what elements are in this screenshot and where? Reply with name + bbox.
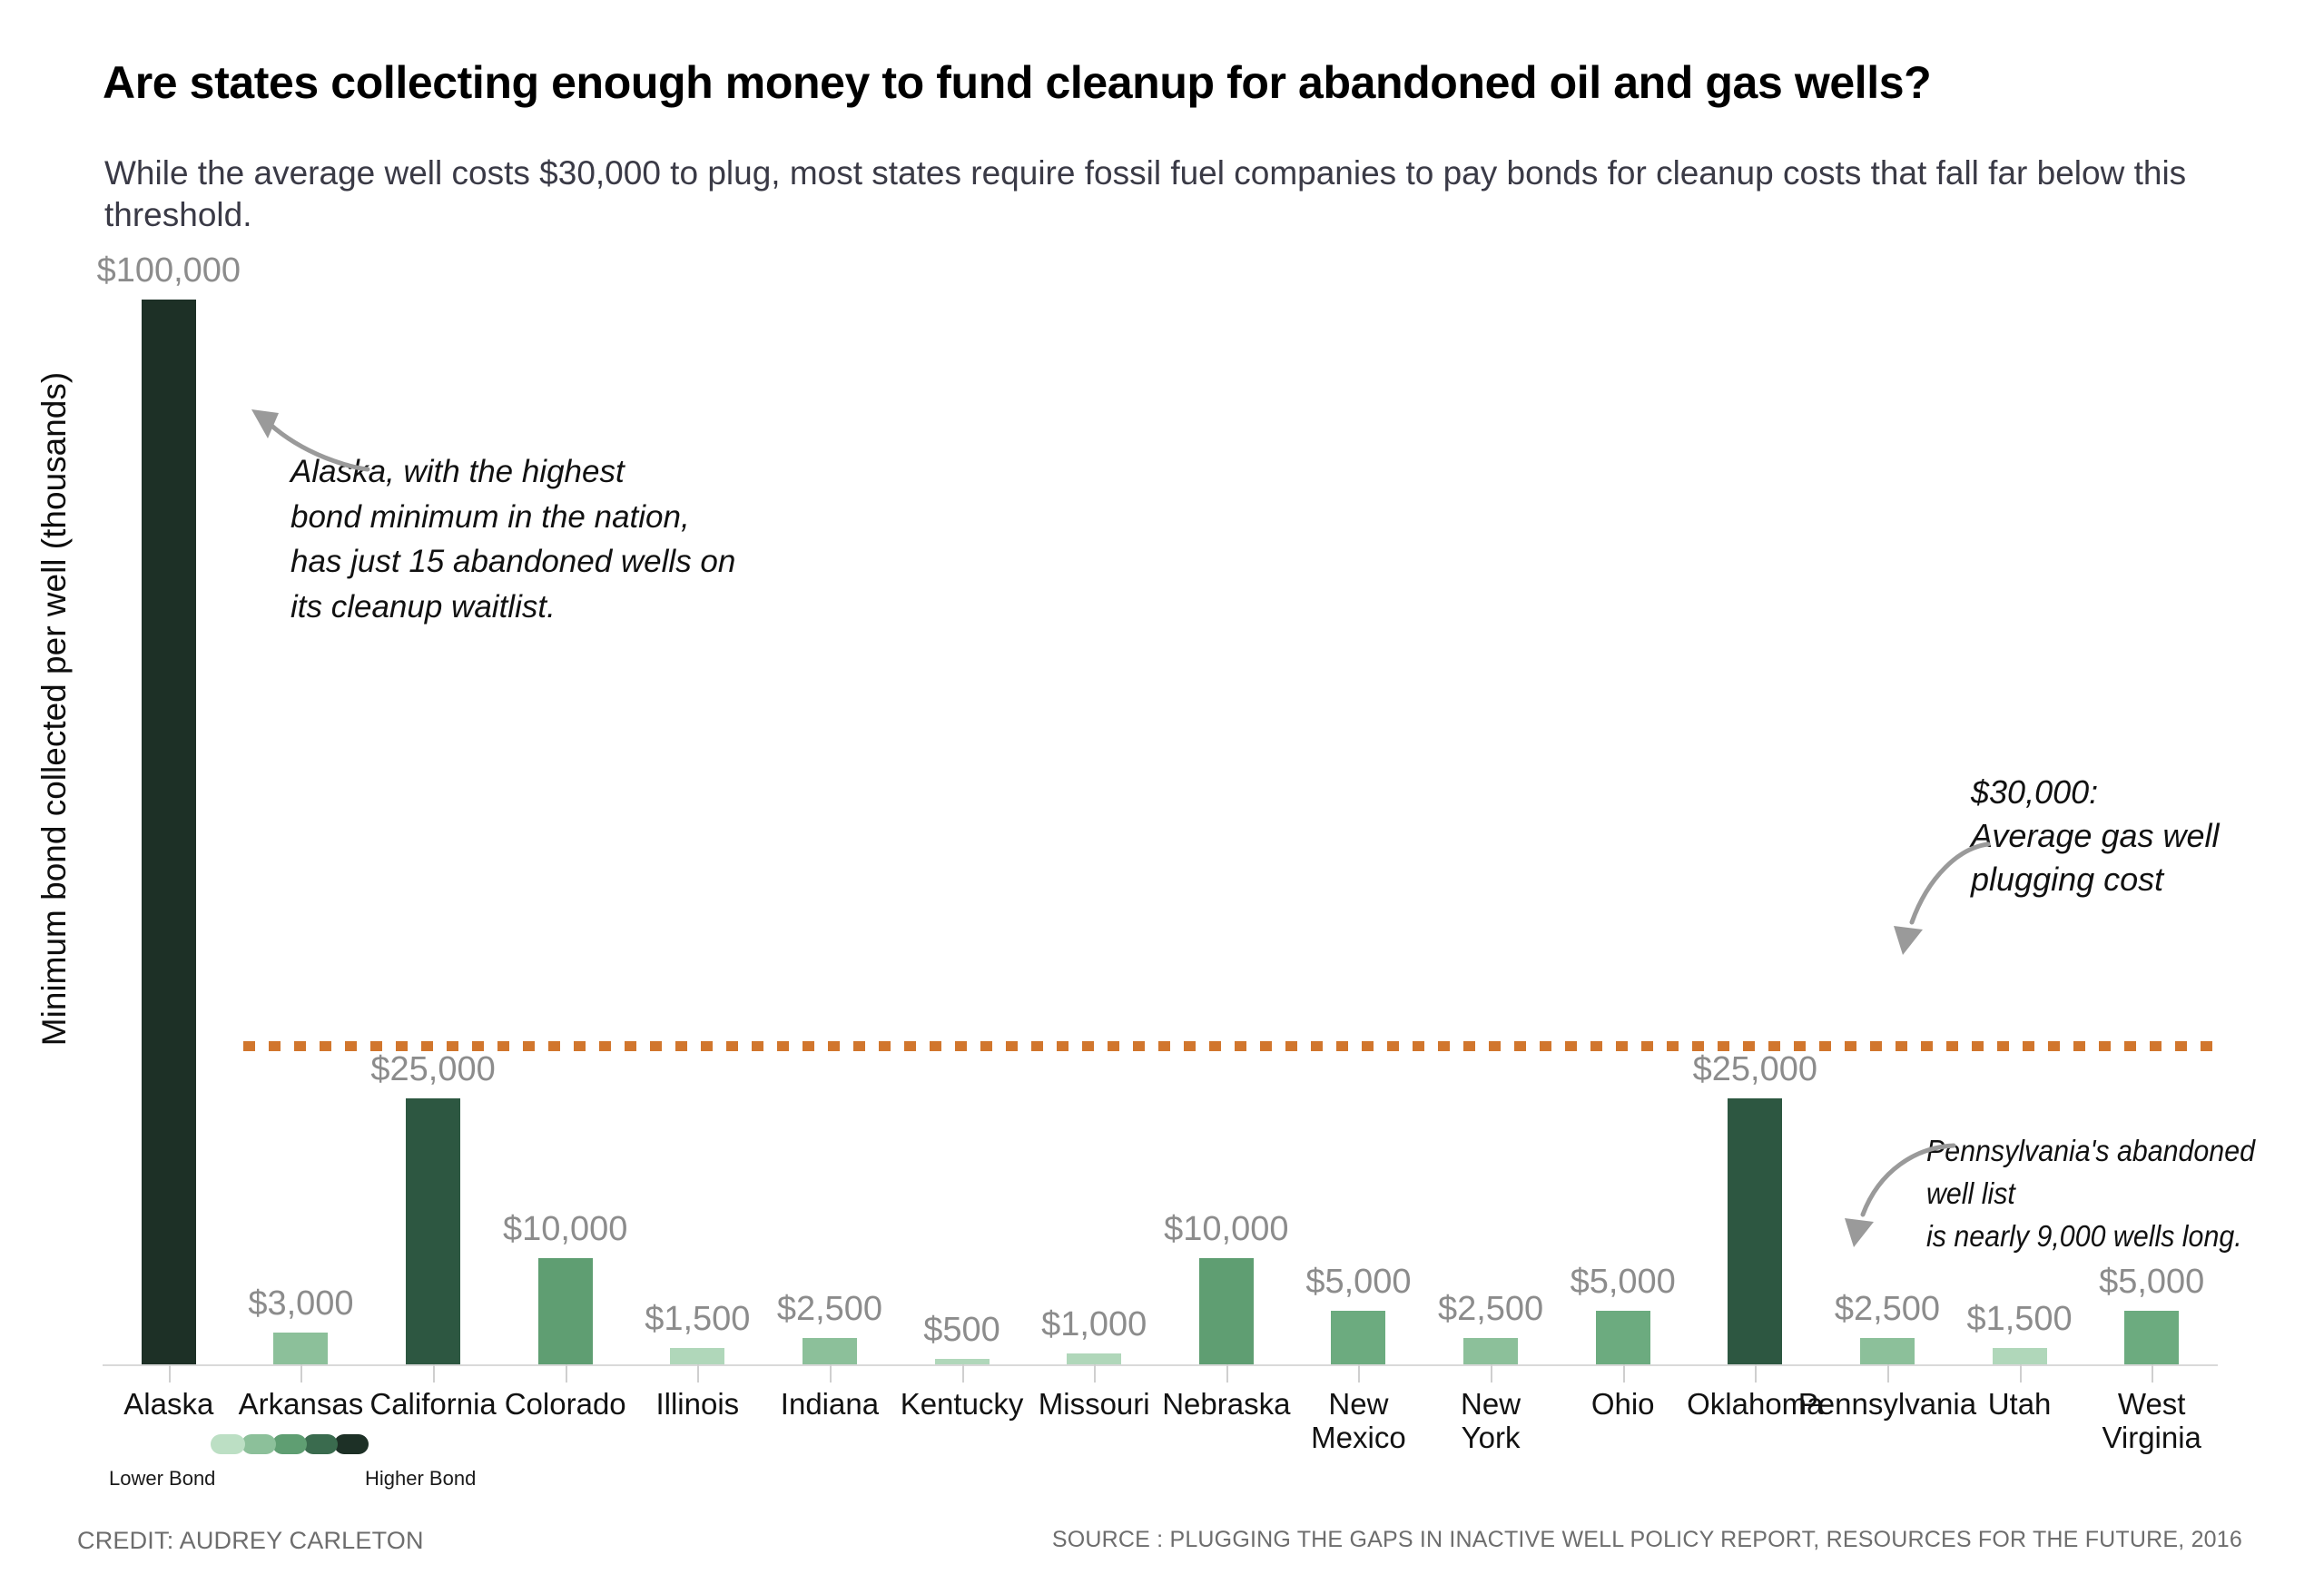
bar-slot: $100,000	[103, 300, 235, 1364]
annotation-pennsylvania: Pennsylvania's abandoned well list is ne…	[1926, 1130, 2292, 1258]
bar-value-label: $10,000	[1164, 1210, 1288, 1249]
bar-value-label: $2,500	[1438, 1290, 1543, 1329]
tick-mark	[1358, 1364, 1360, 1382]
x-tick: Pennsylvania	[1821, 1366, 1954, 1475]
x-tick: Illinois	[632, 1366, 764, 1475]
bar-value-label: $2,500	[1835, 1290, 1940, 1329]
bar-value-label: $10,000	[503, 1210, 627, 1249]
bar-slot: $2,500	[1424, 300, 1557, 1364]
credit-text: CREDIT: AUDREY CARLETON	[77, 1527, 424, 1555]
x-tick-label: Pennsylvania	[1798, 1388, 1976, 1422]
legend-swatch	[211, 1434, 245, 1454]
bar-value-label: $500	[923, 1311, 1000, 1350]
x-tick: Nebraska	[1160, 1366, 1293, 1475]
x-tick: West Virginia	[2085, 1366, 2218, 1475]
bar-slot: $10,000	[1160, 300, 1293, 1364]
bar[interactable]	[538, 1258, 593, 1364]
bar-value-label: $3,000	[248, 1284, 353, 1323]
bar-value-label: $1,000	[1041, 1305, 1147, 1344]
tick-mark	[1623, 1364, 1625, 1382]
bar-value-label: $2,500	[777, 1290, 882, 1329]
tick-mark	[830, 1364, 832, 1382]
bar[interactable]	[2124, 1311, 2179, 1364]
bar-slot: $5,000	[1293, 300, 1425, 1364]
x-tick-label: Kentucky	[901, 1388, 1024, 1422]
bar-slot: $500	[896, 300, 1029, 1364]
x-tick: Kentucky	[896, 1366, 1029, 1475]
bar[interactable]	[1463, 1338, 1518, 1364]
tick-mark	[2020, 1364, 2022, 1382]
tick-mark	[1755, 1364, 1757, 1382]
tick-mark	[1094, 1364, 1096, 1382]
x-tick: New Mexico	[1293, 1366, 1425, 1475]
tick-mark	[300, 1364, 302, 1382]
page-title: Are states collecting enough money to fu…	[103, 56, 1931, 109]
legend-swatch	[241, 1434, 276, 1454]
source-text: SOURCE : PLUGGING THE GAPS IN INACTIVE W…	[1052, 1527, 2242, 1553]
bar-slot: $2,500	[763, 300, 896, 1364]
bar[interactable]	[670, 1348, 724, 1364]
chart-subtitle: While the average well costs $30,000 to …	[104, 153, 2238, 237]
bar[interactable]	[1199, 1258, 1254, 1364]
x-tick: Colorado	[499, 1366, 632, 1475]
legend-swatch	[334, 1434, 369, 1454]
x-tick-label: Alaska	[123, 1388, 213, 1422]
legend: Lower Bond Higher Bond	[109, 1434, 490, 1516]
bar-value-label: $5,000	[1571, 1263, 1676, 1302]
bar[interactable]	[142, 300, 196, 1364]
bar-value-label: $25,000	[1693, 1050, 1817, 1089]
legend-lower-label: Lower Bond	[109, 1467, 215, 1491]
bar[interactable]	[1728, 1098, 1782, 1364]
bar-value-label: $100,000	[97, 251, 241, 290]
x-tick-label: Nebraska	[1162, 1388, 1290, 1422]
bar-slot: $25,000	[1689, 300, 1822, 1364]
bar[interactable]	[803, 1338, 857, 1364]
y-axis-title: Minimum bond collected per well (thousan…	[35, 273, 74, 1145]
bar[interactable]	[1860, 1338, 1915, 1364]
x-tick-label: Ohio	[1591, 1388, 1655, 1422]
x-tick: Utah	[1954, 1366, 2086, 1475]
bar[interactable]	[273, 1333, 328, 1364]
threshold-line	[243, 1041, 2216, 1051]
x-tick-label: Arkansas	[239, 1388, 364, 1422]
bar[interactable]	[1596, 1311, 1650, 1364]
tick-mark	[697, 1364, 699, 1382]
legend-higher-label: Higher Bond	[365, 1467, 476, 1491]
tick-mark	[169, 1364, 171, 1382]
bar-value-label: $5,000	[1305, 1263, 1411, 1302]
tick-mark	[433, 1364, 435, 1382]
x-tick: New York	[1424, 1366, 1557, 1475]
x-tick: Indiana	[763, 1366, 896, 1475]
x-tick-label: Colorado	[505, 1388, 626, 1422]
tick-mark	[1491, 1364, 1492, 1382]
tick-mark	[962, 1364, 964, 1382]
bar[interactable]	[1067, 1353, 1121, 1364]
legend-swatches	[211, 1434, 365, 1454]
x-tick: Missouri	[1028, 1366, 1160, 1475]
bar-slot: $5,000	[1557, 300, 1689, 1364]
tick-mark	[1226, 1364, 1228, 1382]
tick-mark	[2152, 1364, 2153, 1382]
x-tick-label: New York	[1461, 1388, 1521, 1455]
x-tick-label: West Virginia	[2102, 1388, 2201, 1455]
tick-mark	[566, 1364, 567, 1382]
bar-slot: $1,000	[1028, 300, 1160, 1364]
x-tick-label: Missouri	[1039, 1388, 1150, 1422]
bar[interactable]	[1993, 1348, 2047, 1364]
arrow-threshold-icon	[1852, 835, 1997, 980]
bar-value-label: $5,000	[2099, 1263, 2204, 1302]
x-tick-label: New Mexico	[1311, 1388, 1406, 1455]
bar[interactable]	[1331, 1311, 1385, 1364]
bar-value-label: $25,000	[370, 1050, 495, 1089]
bar-value-label: $1,500	[645, 1300, 750, 1339]
arrow-alaska-icon	[231, 359, 377, 477]
legend-swatch	[272, 1434, 307, 1454]
tick-mark	[1887, 1364, 1889, 1382]
x-tick-label: California	[369, 1388, 496, 1422]
bar-value-label: $1,500	[1966, 1300, 2072, 1339]
annotation-threshold-cost: $30,000: Average gas well plugging cost	[1971, 771, 2220, 902]
arrow-pennsylvania-icon	[1807, 1135, 1961, 1262]
legend-swatch	[303, 1434, 338, 1454]
x-tick: Ohio	[1557, 1366, 1689, 1475]
bar[interactable]	[406, 1098, 460, 1364]
x-tick-label: Indiana	[781, 1388, 879, 1422]
x-tick-label: Illinois	[655, 1388, 739, 1422]
x-tick-label: Utah	[1988, 1388, 2052, 1422]
